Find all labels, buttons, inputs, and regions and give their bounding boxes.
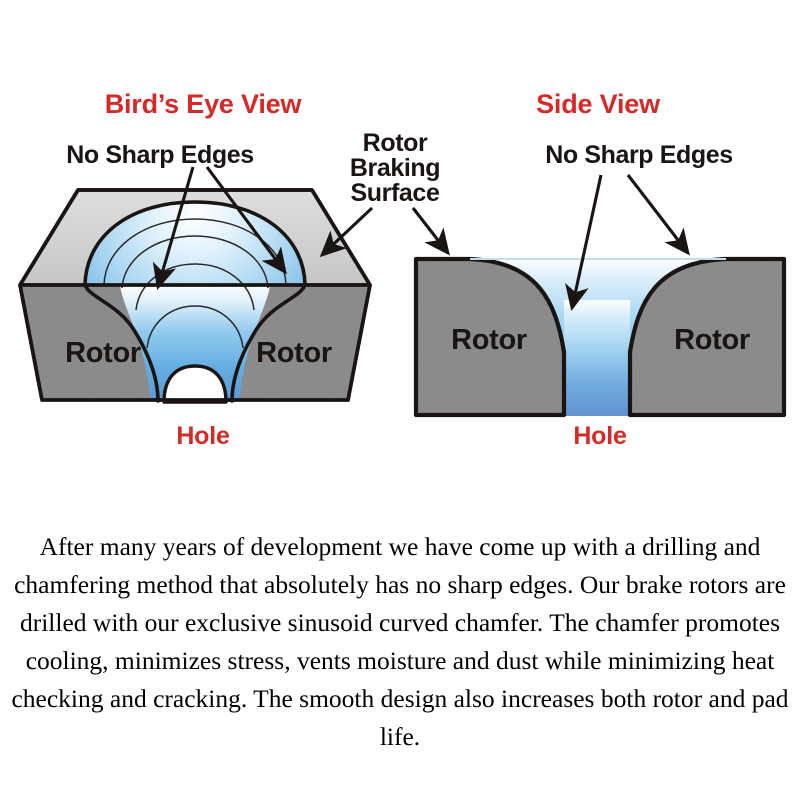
description-paragraph: After many years of development we have … [8, 528, 792, 756]
birds-eye-block [20, 190, 370, 406]
arrow-no-sharp-edges-right-b [628, 175, 688, 253]
rotor-label-side-left: Rotor [451, 324, 527, 356]
hole-label-left: Hole [176, 422, 230, 450]
no-sharp-edges-label-right: No Sharp Edges [545, 141, 733, 169]
rotor-label-side-right: Rotor [674, 324, 750, 356]
braking-surface-line2: Braking [350, 154, 440, 182]
arrow-braking-surface-right [413, 208, 448, 253]
side-hole-channel [564, 300, 630, 420]
birds-eye-title: Bird’s Eye View [105, 89, 303, 119]
braking-surface-line3: Surface [351, 179, 440, 207]
hole-label-right: Hole [573, 422, 627, 450]
diagram-page: Bird’s Eye View No Sharp Edges Rotor Bra… [0, 0, 800, 800]
side-view-title: Side View [536, 89, 661, 119]
rotor-label-right-block: Rotor [256, 337, 332, 369]
rotor-label-left-block: Rotor [65, 337, 141, 369]
braking-surface-line1: Rotor [363, 129, 428, 157]
no-sharp-edges-label-left: No Sharp Edges [66, 141, 254, 169]
